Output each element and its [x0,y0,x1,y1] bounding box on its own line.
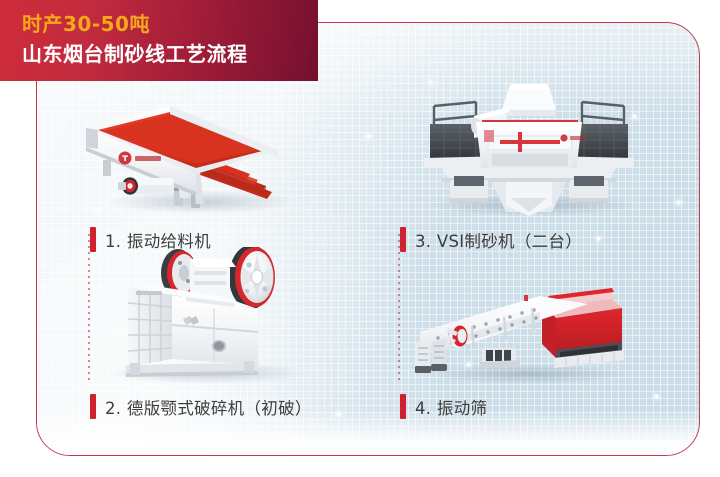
vibrating-screen-centre-support [480,348,520,368]
label-vsi-sand-maker: 3. VSI制砂机（二台） [400,227,582,252]
label-jaw-crusher: 2. 德版颚式破碎机（初破） [90,394,312,419]
label-accent-bar [400,394,406,419]
vsi-base-frame [442,168,616,216]
vibrating-screen-icon [412,274,642,379]
vsi-main-drum [476,121,586,172]
vsi-sand-maker-icon [414,80,644,220]
banner-line-2: 山东烟台制砂线工艺流程 [22,39,318,69]
vsi-feed-hopper [502,84,556,116]
label-text: 4. 振动筛 [415,395,487,419]
banner-line-1: 时产30-50吨 [22,9,318,39]
label-accent-bar [400,227,406,252]
connector-dotted-right [398,234,400,384]
process-flow-grid: 1. 振动给料机 [36,22,700,456]
label-vibrating-screen: 4. 振动筛 [400,394,487,419]
poster-canvas: 时产30-50吨 山东烟台制砂线工艺流程 [0,0,720,477]
jaw-crusher-icon [106,247,306,377]
label-accent-bar [90,394,96,419]
label-text: 2. 德版颚式破碎机（初破） [105,395,312,419]
connector-dotted-left [88,234,90,384]
title-banner: 时产30-50吨 山东烟台制砂线工艺流程 [0,0,318,81]
jaw-crusher-flywheel-front [229,247,275,309]
label-text: 3. VSI制砂机（二台） [415,228,582,252]
